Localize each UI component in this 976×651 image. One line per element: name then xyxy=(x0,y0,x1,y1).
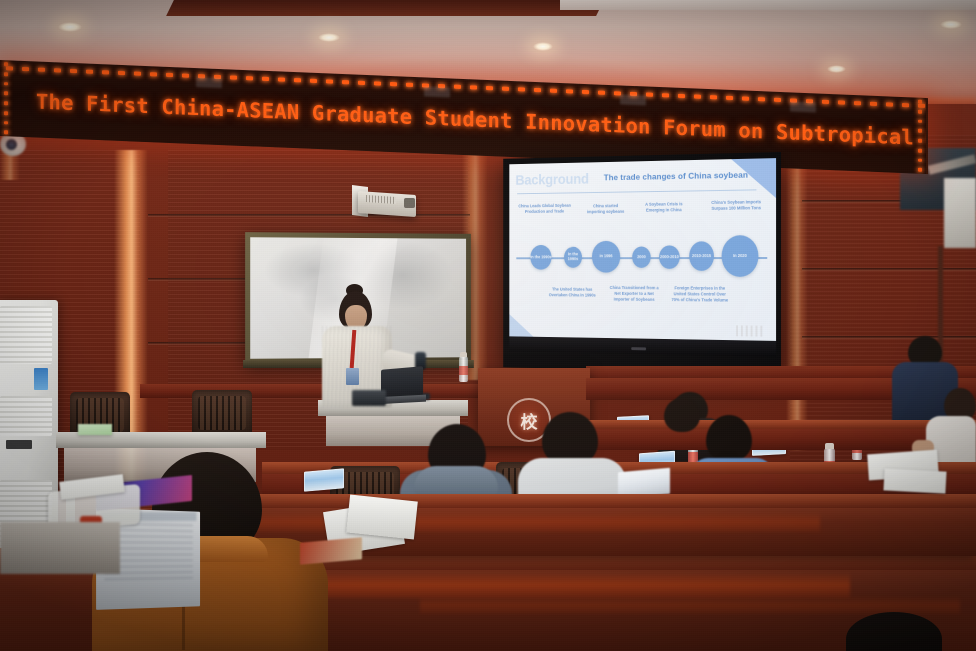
led-dot xyxy=(230,75,237,79)
led-dot xyxy=(918,119,922,123)
led-dot xyxy=(838,100,845,104)
led-dot xyxy=(774,97,781,101)
wall-groove-5 xyxy=(802,268,976,271)
led-dot xyxy=(262,76,269,80)
slide-divider xyxy=(517,189,756,194)
timeline-node: 2010-2015 xyxy=(689,241,714,271)
led-dot xyxy=(502,86,509,90)
led-dot xyxy=(4,101,8,105)
ac-vent xyxy=(6,440,32,449)
led-dot xyxy=(822,99,829,103)
led-dot xyxy=(374,81,381,85)
wall-equipment-box xyxy=(944,178,976,248)
timeline-node: 2000 xyxy=(632,246,651,267)
conference-hall-photo: The First China-ASEAN Graduate Student I… xyxy=(0,0,976,651)
led-dot xyxy=(70,68,77,72)
led-dot xyxy=(598,90,605,94)
presenter-device[interactable] xyxy=(352,390,386,406)
papers xyxy=(883,468,946,493)
timeline-caption-above: China's Soybean Imports Surpass 100 Mill… xyxy=(706,199,766,212)
led-dot xyxy=(470,85,477,89)
led-dot xyxy=(566,89,573,93)
timeline-caption-below: Foreign Enterprises in the United States… xyxy=(670,285,729,304)
led-dot xyxy=(358,80,365,84)
led-dot xyxy=(742,96,749,100)
led-vent-2 xyxy=(424,86,450,97)
led-dot xyxy=(534,87,541,91)
led-dot xyxy=(4,82,8,86)
wall-groove-1 xyxy=(148,214,470,217)
led-dot xyxy=(118,70,125,74)
bottle-cap xyxy=(825,443,834,449)
timeline-caption-below: The United States has Overtaken China in… xyxy=(548,287,596,299)
led-dot xyxy=(550,88,557,92)
led-dot xyxy=(4,130,8,134)
led-vent-4 xyxy=(790,101,816,112)
led-dot xyxy=(22,66,29,70)
led-dot xyxy=(38,67,45,71)
led-dot xyxy=(310,78,317,82)
led-dot xyxy=(4,62,8,66)
timeline-node: In 2020 xyxy=(722,235,759,277)
led-dot xyxy=(4,91,8,95)
head xyxy=(664,398,700,432)
rear-desk-folder xyxy=(78,424,112,435)
led-dot xyxy=(918,158,922,162)
projection-screen: Background The trade changes of China so… xyxy=(503,152,781,374)
slide-title: The trade changes of China soybean xyxy=(604,170,748,183)
downlight-4 xyxy=(827,65,846,73)
wall-pilaster-4 xyxy=(786,150,808,450)
led-dot xyxy=(102,70,109,74)
led-dot xyxy=(710,95,717,99)
wall-groove-3 xyxy=(148,342,250,345)
led-dot xyxy=(294,78,301,82)
timeline-caption-above: China Leads Global Soybean Production an… xyxy=(518,203,571,215)
desk-row-2-top xyxy=(560,420,976,429)
bottle-label xyxy=(459,366,468,375)
projector-lens xyxy=(404,198,415,208)
led-dot xyxy=(134,71,141,75)
downlight-3 xyxy=(533,42,553,51)
led-dot-col-left xyxy=(3,62,8,134)
mid-bench-top xyxy=(140,494,976,508)
led-dot xyxy=(582,89,589,93)
led-dot xyxy=(886,102,893,106)
led-dot xyxy=(326,79,333,83)
led-dot xyxy=(166,72,173,76)
screen-speaker-grille xyxy=(736,325,762,336)
downlight-1 xyxy=(58,22,82,32)
led-dot xyxy=(246,76,253,80)
downlight-5 xyxy=(940,20,962,29)
led-dot xyxy=(4,72,8,76)
floor xyxy=(0,522,120,574)
downlight-2 xyxy=(318,33,340,42)
name-placard xyxy=(304,468,344,491)
led-dot xyxy=(694,94,701,98)
front-bench-led-reflection-2 xyxy=(420,596,960,614)
ceiling-camera-lens xyxy=(6,139,17,150)
presenter-badge xyxy=(346,368,359,385)
led-dot xyxy=(662,93,669,97)
led-dot xyxy=(870,101,877,105)
led-dot xyxy=(918,100,922,104)
led-dot xyxy=(4,111,8,115)
led-dot xyxy=(86,69,93,73)
ceiling-soffit xyxy=(560,0,976,10)
led-dot xyxy=(902,103,909,107)
wall-groove-2 xyxy=(148,278,258,281)
led-dot xyxy=(342,80,349,84)
ac-grille-top xyxy=(0,306,52,364)
led-vent-3 xyxy=(620,94,646,105)
chair-slats xyxy=(198,396,246,430)
led-dot xyxy=(758,97,765,101)
timeline-caption-below: China Transitioned from a Net Exporter t… xyxy=(609,285,659,303)
ac-energy-label xyxy=(34,368,48,390)
timeline-node: 2000-2010 xyxy=(659,245,680,268)
led-dot xyxy=(4,121,8,125)
presentation-slide: Background The trade changes of China so… xyxy=(509,158,776,357)
timeline-node: In the 1990s xyxy=(564,247,582,268)
screen-brand-logo xyxy=(631,347,646,350)
led-vent-1 xyxy=(196,77,222,88)
papers xyxy=(346,495,418,540)
led-dot xyxy=(678,93,685,97)
led-dot xyxy=(454,84,461,88)
wall-groove-6 xyxy=(802,336,976,339)
led-dot xyxy=(54,68,61,72)
led-dot xyxy=(854,101,861,105)
timeline-caption-above: A Soybean Crisis is Emerging in China xyxy=(644,201,683,214)
led-dot xyxy=(406,82,413,86)
led-dot xyxy=(646,92,653,96)
timeline-node: In the 1990s xyxy=(530,245,551,270)
led-dot xyxy=(150,72,157,76)
slide-section-label: Background xyxy=(515,172,588,189)
led-dot xyxy=(918,109,922,113)
led-dot xyxy=(182,73,189,77)
ac-grille-mid xyxy=(0,396,52,436)
timeline-node: in 1996 xyxy=(592,241,620,273)
led-dot xyxy=(518,87,525,91)
ceiling-beam xyxy=(166,0,604,16)
screen-bezel xyxy=(509,336,776,357)
timeline-caption-above: China started importing soybeans xyxy=(584,203,628,215)
led-dot xyxy=(486,85,493,89)
led-dot xyxy=(390,82,397,86)
led-dot xyxy=(918,168,922,172)
led-dot xyxy=(278,77,285,81)
led-dot xyxy=(726,95,733,99)
bottle-cap xyxy=(460,352,467,357)
